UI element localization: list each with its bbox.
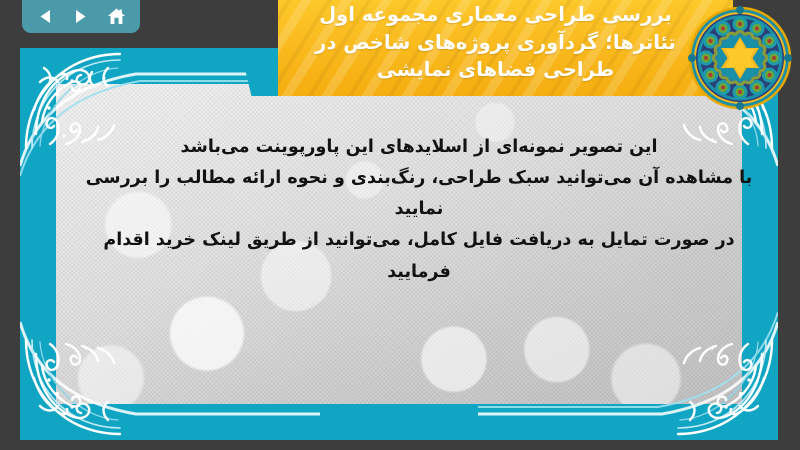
slide-navigation-bar: [22, 0, 140, 33]
triangle-left-icon: [37, 8, 54, 25]
slide-body-text: این تصویر نمونه‌ای از اسلایدهای این پاور…: [72, 132, 766, 288]
title-banner: بررسی طراحی معماری مجموعه اول تئاترها؛ گ…: [278, 0, 733, 96]
previous-slide-button[interactable]: [33, 5, 59, 29]
triangle-right-icon: [72, 8, 89, 25]
body-line-2: با مشاهده آن می‌توانید سبک طراحی، رنگ‌بن…: [72, 163, 766, 225]
home-button[interactable]: [103, 5, 129, 29]
slide-title: بررسی طراحی معماری مجموعه اول تئاترها؛ گ…: [278, 0, 733, 84]
next-slide-button[interactable]: [68, 5, 94, 29]
persian-mandala-medallion: [688, 6, 792, 110]
body-line-3: در صورت تمایل به دریافت فایل کامل، می‌تو…: [72, 225, 766, 287]
body-line-1: این تصویر نمونه‌ای از اسلایدهای این پاور…: [72, 132, 766, 163]
slide-viewer: این تصویر نمونه‌ای از اسلایدهای این پاور…: [0, 0, 800, 450]
home-icon: [107, 7, 126, 26]
